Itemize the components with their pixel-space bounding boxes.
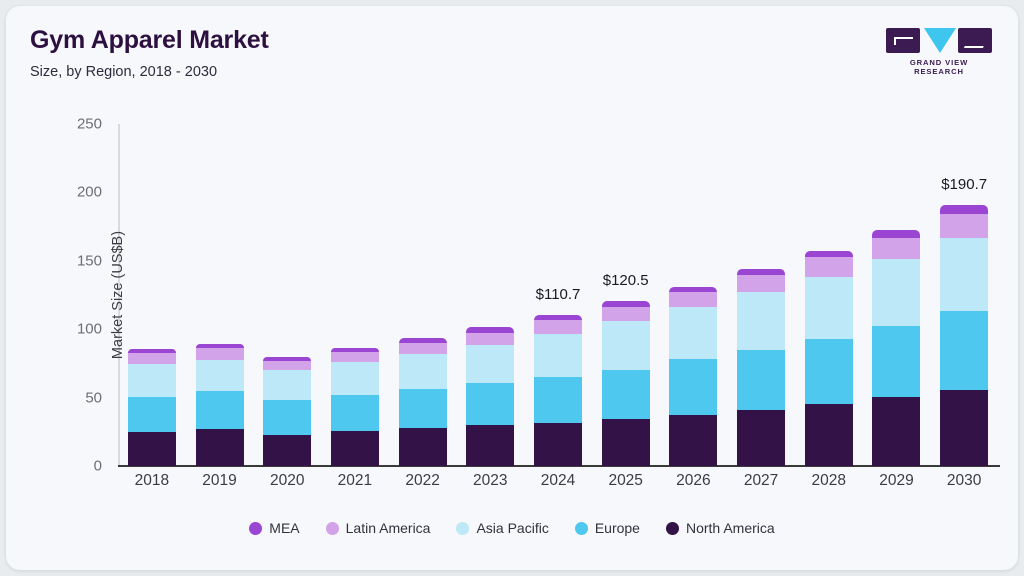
bar-segment-2028-asia-pacific[interactable] [805,277,853,339]
bar-group-2023[interactable]: 2023 [466,124,514,466]
bar-segment-2029-asia-pacific[interactable] [872,259,920,327]
y-tick-label-150: 150 [50,252,102,269]
bar-segment-2021-latin-america[interactable] [331,352,379,362]
bar-group-2030[interactable]: $190.72030 [940,124,988,466]
logo-v-triangle-icon [924,28,956,53]
bar-segment-2023-mea[interactable] [466,327,514,332]
x-tick-label-2028: 2028 [812,472,846,490]
x-tick-label-2022: 2022 [405,472,439,490]
bar-group-2020[interactable]: 2020 [263,124,311,466]
bar-segment-2019-mea[interactable] [196,344,244,349]
bar-segment-2022-europe[interactable] [399,389,447,428]
bar-group-2029[interactable]: 2029 [872,124,920,466]
legend-swatch-latin-america-icon [326,522,339,535]
bar-segment-2026-mea[interactable] [669,287,717,292]
plot-area: Market Size (US$B) 050100150200250 20182… [118,124,998,466]
bar-segment-2024-asia-pacific[interactable] [534,334,582,377]
legend-swatch-mea-icon [249,522,262,535]
legend-swatch-north-america-icon [666,522,679,535]
bar-segment-2021-mea[interactable] [331,348,379,352]
bar-segment-2024-mea[interactable] [534,315,582,321]
bar-segment-2030-mea[interactable] [940,205,988,213]
bar-segment-2029-north-america[interactable] [872,397,920,466]
bar-segment-2030-north-america[interactable] [940,390,988,466]
bar-segment-2027-latin-america[interactable] [737,275,785,292]
bar-group-2027[interactable]: 2027 [737,124,785,466]
bar-segment-2020-latin-america[interactable] [263,361,311,371]
bar-segment-2026-latin-america[interactable] [669,292,717,307]
bar-segment-2025-asia-pacific[interactable] [602,321,650,370]
bar-segment-2028-north-america[interactable] [805,404,853,466]
y-tick-label-0: 0 [50,458,102,475]
x-tick-label-2026: 2026 [676,472,710,490]
logo-wordmark: GRAND VIEW RESEARCH [886,58,992,76]
bar-segment-2018-mea[interactable] [128,349,176,353]
bar-segment-2028-mea[interactable] [805,251,853,258]
logo-g-notch [894,37,913,45]
bar-segment-2023-north-america[interactable] [466,425,514,466]
bar-segment-2021-north-america[interactable] [331,431,379,466]
x-tick-label-2030: 2030 [947,472,981,490]
bar-segment-2030-latin-america[interactable] [940,214,988,239]
bar-value-label-2025: $120.5 [603,272,649,289]
y-tick-label-50: 50 [50,389,102,406]
bar-segment-2029-mea[interactable] [872,230,920,238]
chart-subtitle: Size, by Region, 2018 - 2030 [30,64,217,80]
page-title: Gym Apparel Market [30,26,269,55]
bar-segment-2025-north-america[interactable] [602,419,650,466]
bar-segment-2025-mea[interactable] [602,301,650,306]
bar-segment-2022-asia-pacific[interactable] [399,354,447,390]
y-tick-label-200: 200 [50,184,102,201]
bar-segment-2021-europe[interactable] [331,395,379,431]
x-tick-label-2023: 2023 [473,472,507,490]
legend-swatch-europe-icon [575,522,588,535]
bar-segment-2020-mea[interactable] [263,357,311,361]
bar-segment-2019-asia-pacific[interactable] [196,360,244,391]
bar-segment-2018-asia-pacific[interactable] [128,364,176,397]
bar-segment-2023-europe[interactable] [466,383,514,425]
bar-segment-2026-europe[interactable] [669,359,717,414]
legend-label-latin-america: Latin America [346,520,431,536]
legend-item-mea[interactable]: MEA [249,520,299,536]
bar-segment-2023-asia-pacific[interactable] [466,345,514,383]
legend-item-latin-america[interactable]: Latin America [326,520,431,536]
bar-segment-2023-latin-america[interactable] [466,333,514,345]
bar-segment-2020-north-america[interactable] [263,435,311,466]
bar-segment-2027-asia-pacific[interactable] [737,292,785,349]
x-tick-label-2020: 2020 [270,472,304,490]
bar-segment-2030-europe[interactable] [940,311,988,390]
bar-segment-2025-latin-america[interactable] [602,307,650,321]
bar-segment-2022-north-america[interactable] [399,428,447,466]
logo-mark-icon [886,28,992,56]
legend-label-europe: Europe [595,520,640,536]
bar-segment-2029-latin-america[interactable] [872,238,920,259]
bar-segment-2021-asia-pacific[interactable] [331,362,379,395]
grand-view-research-logo: GRAND VIEW RESEARCH [886,28,992,72]
legend-label-north-america: North America [686,520,775,536]
legend-label-asia-pacific: Asia Pacific [476,520,548,536]
bar-group-2024[interactable]: $110.72024 [534,124,582,466]
bar-segment-2025-europe[interactable] [602,370,650,419]
bar-segment-2024-europe[interactable] [534,377,582,423]
bar-segment-2026-north-america[interactable] [669,415,717,466]
bar-segment-2019-latin-america[interactable] [196,348,244,360]
x-tick-label-2024: 2024 [541,472,575,490]
bar-segment-2024-latin-america[interactable] [534,320,582,334]
x-tick-label-2029: 2029 [879,472,913,490]
chart-legend: MEALatin AmericaAsia PacificEuropeNorth … [6,520,1018,536]
bar-segment-2019-north-america[interactable] [196,429,244,466]
bar-series-container: 201820192020202120222023$110.72024$120.5… [118,124,998,466]
legend-swatch-asia-pacific-icon [456,522,469,535]
bar-value-label-2024: $110.7 [536,286,581,303]
bar-segment-2022-latin-america[interactable] [399,343,447,354]
legend-item-asia-pacific[interactable]: Asia Pacific [456,520,548,536]
bar-segment-2029-europe[interactable] [872,326,920,396]
bar-segment-2020-asia-pacific[interactable] [263,370,311,399]
bar-segment-2018-north-america[interactable] [128,432,176,466]
bar-value-label-2030: $190.7 [941,176,987,193]
bar-segment-2024-north-america[interactable] [534,423,582,466]
bar-group-2021[interactable]: 2021 [331,124,379,466]
bar-group-2022[interactable]: 2022 [399,124,447,466]
x-tick-label-2025: 2025 [608,472,642,490]
logo-r-notch [964,37,987,48]
bar-group-2019[interactable]: 2019 [196,124,244,466]
bar-segment-2030-asia-pacific[interactable] [940,238,988,311]
x-tick-label-2027: 2027 [744,472,778,490]
bar-segment-2027-mea[interactable] [737,269,785,275]
bar-segment-2027-north-america[interactable] [737,410,785,466]
x-tick-label-2021: 2021 [338,472,372,490]
bar-segment-2027-europe[interactable] [737,350,785,410]
legend-label-mea: MEA [269,520,299,536]
bar-segment-2026-asia-pacific[interactable] [669,307,717,359]
bar-group-2026[interactable]: 2026 [669,124,717,466]
y-tick-label-250: 250 [50,116,102,133]
y-tick-label-100: 100 [50,321,102,338]
bar-segment-2020-europe[interactable] [263,400,311,435]
bar-group-2025[interactable]: $120.52025 [602,124,650,466]
bar-segment-2019-europe[interactable] [196,391,244,429]
chart-header: Gym Apparel Market Size, by Region, 2018… [6,6,1018,102]
bar-group-2018[interactable]: 2018 [128,124,176,466]
x-tick-label-2018: 2018 [135,472,169,490]
legend-item-europe[interactable]: Europe [575,520,640,536]
legend-item-north-america[interactable]: North America [666,520,775,536]
x-tick-label-2019: 2019 [202,472,236,490]
bar-group-2028[interactable]: 2028 [805,124,853,466]
bar-segment-2018-latin-america[interactable] [128,353,176,364]
bar-segment-2018-europe[interactable] [128,397,176,433]
bar-segment-2028-europe[interactable] [805,339,853,404]
chart-card: Gym Apparel Market Size, by Region, 2018… [6,6,1018,570]
bar-segment-2022-mea[interactable] [399,338,447,343]
bar-segment-2028-latin-america[interactable] [805,257,853,276]
